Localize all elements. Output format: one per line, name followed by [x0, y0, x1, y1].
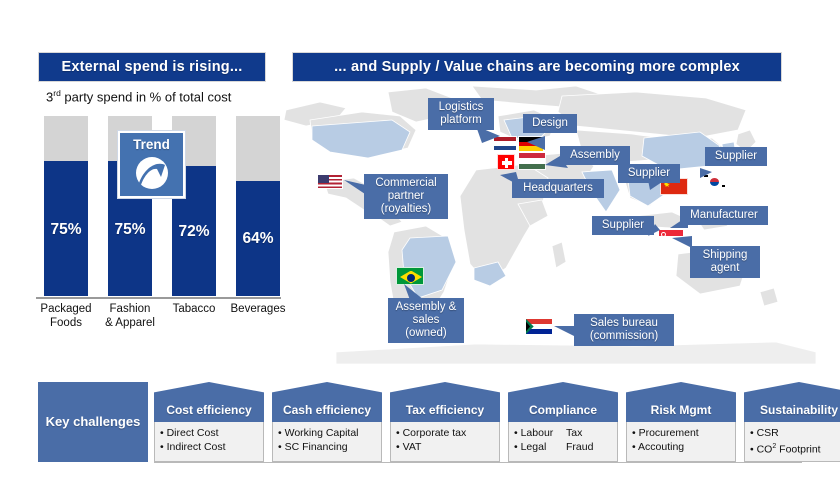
challenge-item: • Labour — [514, 426, 566, 440]
flag-hungary — [518, 152, 546, 170]
callout-supplier-sea[interactable]: Supplier — [592, 216, 654, 235]
bar-value-label: 64% — [236, 230, 280, 248]
challenge-item-secondary: Tax — [566, 426, 612, 440]
challenge-item-row: • Corporate tax — [396, 426, 494, 440]
challenge-item-row: • Indirect Cost — [160, 440, 258, 454]
bar-value-label: 75% — [108, 221, 152, 239]
challenge-item-row: • Direct Cost — [160, 426, 258, 440]
trend-arrow-icon — [131, 153, 173, 193]
challenge-item-row: • LegalFraud — [514, 440, 612, 454]
flag-singapore — [658, 229, 684, 243]
bar-category-label: Fashion& Apparel — [99, 303, 161, 330]
challenge-column-title: Tax efficiency — [390, 382, 500, 422]
bar-category-line: Beverages — [227, 303, 289, 317]
callout-assembly[interactable]: Assembly — [560, 146, 630, 165]
challenge-column-title: Cost efficiency — [154, 382, 264, 422]
chart-subtitle-sup: rd — [53, 88, 61, 98]
callout-supplier-korea[interactable]: Supplier — [705, 147, 767, 166]
challenge-column-4[interactable]: Compliance• LabourTax• LegalFraud — [508, 382, 618, 462]
bar-value-label: 75% — [44, 221, 88, 239]
bar-category-line: & Apparel — [99, 317, 161, 331]
challenge-column-1[interactable]: Cost efficiency• Direct Cost• Indirect C… — [154, 382, 264, 462]
callout-headquarters[interactable]: Headquarters — [512, 179, 604, 198]
bar-category-line: Foods — [35, 317, 97, 331]
bar-category-label: Beverages — [227, 303, 289, 317]
flag-germany — [518, 136, 544, 152]
challenge-column-items: • LabourTax• LegalFraud — [508, 422, 618, 462]
challenge-column-items: • CSR• CO2 Footprint — [744, 422, 840, 462]
callout-logistics-platform[interactable]: Logistics platform — [428, 98, 494, 130]
challenge-item: • SC Financing — [278, 440, 376, 454]
challenge-item: • Working Capital — [278, 426, 376, 440]
bar-category-label: PackagedFoods — [35, 303, 97, 330]
callout-sales-bureau[interactable]: Sales bureau (commission) — [574, 314, 674, 346]
bar-4: 64% — [236, 116, 280, 296]
challenge-column-title: Cash efficiency — [272, 382, 382, 422]
flag-south-korea — [701, 172, 726, 189]
flag-switzerland — [497, 154, 515, 170]
challenge-column-6[interactable]: Sustainability• CSR• CO2 Footprint — [744, 382, 840, 462]
challenge-item: • VAT — [396, 440, 494, 454]
chart-axis-line — [36, 297, 281, 299]
challenge-item: • Direct Cost — [160, 426, 258, 440]
bar-category-line: Tabacco — [163, 303, 225, 317]
challenge-column-5[interactable]: Risk Mgmt• Procurement• Accouting — [626, 382, 736, 462]
bar-category-line: Fashion — [99, 303, 161, 317]
trend-badge-label: Trend — [133, 137, 170, 152]
challenge-item-row: • LabourTax — [514, 426, 612, 440]
bar-1: 75% — [44, 116, 88, 296]
callout-manufacturer[interactable]: Manufacturer — [680, 206, 768, 225]
slide-root: External spend is rising... 3rd party sp… — [0, 0, 840, 492]
callout-commercial-partner[interactable]: Commercial partner (royalties) — [364, 174, 448, 219]
challenge-column-title: Compliance — [508, 382, 618, 422]
chart-subtitle-post: party spend in % of total cost — [61, 89, 232, 104]
callout-shipping-agent[interactable]: Shipping agent — [690, 246, 760, 278]
flag-brazil — [396, 267, 424, 285]
bar-category-line: Packaged — [35, 303, 97, 317]
challenge-item-row: • SC Financing — [278, 440, 376, 454]
callout-design[interactable]: Design — [523, 114, 577, 133]
callout-assembly-sales[interactable]: Assembly & sales (owned) — [388, 298, 464, 343]
trend-badge: Trend — [118, 131, 185, 198]
challenge-item-row: • CO2 Footprint — [750, 440, 840, 457]
bar-value-label: 72% — [172, 223, 216, 241]
challenge-item: • Procurement — [632, 426, 730, 440]
challenge-item: • Indirect Cost — [160, 440, 258, 454]
challenge-column-3[interactable]: Tax efficiency• Corporate tax• VAT — [390, 382, 500, 462]
flag-usa — [317, 174, 343, 189]
challenge-item: • CSR — [750, 426, 840, 440]
flag-south-africa — [525, 318, 553, 335]
key-challenges-label: Key challenges — [38, 382, 148, 462]
left-panel-header: External spend is rising... — [38, 52, 266, 82]
callout-supplier-china[interactable]: Supplier — [618, 164, 680, 183]
challenge-item: • Accouting — [632, 440, 730, 454]
challenge-item-secondary: Fraud — [566, 440, 612, 454]
right-panel-header: ... and Supply / Value chains are becomi… — [292, 52, 782, 82]
bar-category-label: Tabacco — [163, 303, 225, 317]
challenge-column-items: • Working Capital• SC Financing — [272, 422, 382, 462]
flag-netherlands — [493, 136, 517, 151]
challenge-item-row: • Accouting — [632, 440, 730, 454]
challenge-item-row: • Procurement — [632, 426, 730, 440]
challenge-item: • Corporate tax — [396, 426, 494, 440]
chart-subtitle: 3rd party spend in % of total cost — [46, 88, 231, 104]
challenge-item: • CO2 Footprint — [750, 440, 840, 457]
challenge-column-items: • Corporate tax• VAT — [390, 422, 500, 462]
challenge-item: • Legal — [514, 440, 566, 454]
challenge-item-row: • Working Capital — [278, 426, 376, 440]
challenge-column-title: Sustainability — [744, 382, 840, 422]
challenge-column-2[interactable]: Cash efficiency• Working Capital• SC Fin… — [272, 382, 382, 462]
challenges-underline — [154, 462, 802, 463]
challenge-item-row: • VAT — [396, 440, 494, 454]
challenge-item-row: • CSR — [750, 426, 840, 440]
key-challenges-strip: Key challenges Cost efficiency• Direct C… — [38, 382, 802, 462]
challenge-column-title: Risk Mgmt — [626, 382, 736, 422]
challenge-column-items: • Direct Cost• Indirect Cost — [154, 422, 264, 462]
challenge-column-items: • Procurement• Accouting — [626, 422, 736, 462]
